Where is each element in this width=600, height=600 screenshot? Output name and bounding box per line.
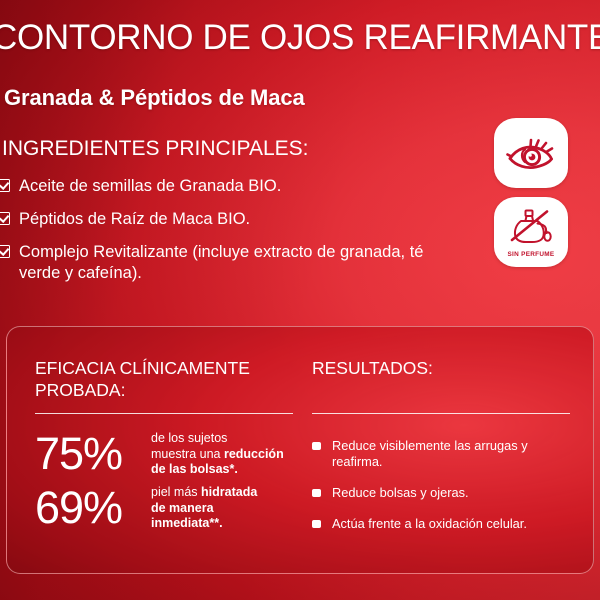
- badge-caption: SIN PERFUME: [508, 251, 555, 258]
- ingredients-section: INGREDIENTES PRINCIPALES: Aceite de semi…: [0, 136, 440, 296]
- results-heading: RESULTADOS:: [312, 357, 570, 379]
- ingredient-text: Aceite de semillas de Granada BIO.: [19, 176, 281, 197]
- ingredient-text: Péptidos de Raíz de Maca BIO.: [19, 209, 250, 230]
- badge-eye: [494, 118, 568, 188]
- list-item: Complejo Revitalizante (incluye extracto…: [0, 242, 440, 284]
- no-perfume-icon: [506, 207, 556, 249]
- stat-value: 69%: [35, 484, 151, 532]
- list-item: Actúa frente a la oxidación celular.: [312, 516, 570, 532]
- result-text: Reduce visiblemente las arrugas y reafir…: [332, 438, 570, 470]
- stat-desc-line1: de los sujetos: [151, 431, 227, 445]
- stat-desc-bold2: de las bolsas*.: [151, 462, 238, 476]
- stat-desc-line1: piel más: [151, 485, 201, 499]
- list-item: Reduce bolsas y ojeras.: [312, 485, 570, 501]
- results-list: Reduce visiblemente las arrugas y reafir…: [312, 438, 570, 532]
- checkbox-icon: [0, 245, 10, 258]
- stat-desc-line2: muestra una: [151, 447, 224, 461]
- checkbox-icon: [0, 212, 10, 225]
- ingredients-heading: INGREDIENTES PRINCIPALES:: [2, 136, 440, 162]
- stat-desc-bold3: inmediata**.: [151, 516, 223, 530]
- page-title: CONTORNO DE OJOS REAFIRMANTE: [0, 18, 600, 58]
- divider: [35, 413, 293, 414]
- stat-description: de los sujetos muestra una reducción de …: [151, 431, 284, 478]
- list-item: Péptidos de Raíz de Maca BIO.: [0, 209, 440, 230]
- product-poster: CONTORNO DE OJOS REAFIRMANTE Granada & P…: [0, 0, 600, 600]
- stats-list: 75% de los sujetos muestra una reducción…: [35, 430, 293, 532]
- results-section: RESULTADOS: Reduce visiblemente las arru…: [312, 357, 570, 547]
- bullet-icon: [312, 442, 321, 450]
- list-item: Reduce visiblemente las arrugas y reafir…: [312, 438, 570, 470]
- ingredients-list: Aceite de semillas de Granada BIO. Pépti…: [0, 176, 440, 284]
- badge-group: SIN PERFUME: [494, 118, 568, 267]
- stat-row: 75% de los sujetos muestra una reducción…: [35, 430, 293, 478]
- efficacy-section: EFICACIA CLÍNICAMENTE PROBADA: 75% de lo…: [35, 357, 293, 538]
- stat-description: piel más hidratada de manera inmediata**…: [151, 485, 257, 532]
- list-item: Aceite de semillas de Granada BIO.: [0, 176, 440, 197]
- stat-row: 69% piel más hidratada de manera inmedia…: [35, 484, 293, 532]
- page-subtitle: Granada & Péptidos de Maca: [4, 84, 305, 111]
- eye-icon: [506, 135, 556, 171]
- result-text: Actúa frente a la oxidación celular.: [332, 516, 527, 532]
- ingredient-text: Complejo Revitalizante (incluye extracto…: [19, 242, 440, 284]
- result-text: Reduce bolsas y ojeras.: [332, 485, 469, 501]
- divider: [312, 413, 570, 414]
- checkbox-icon: [0, 179, 10, 192]
- claims-panel: EFICACIA CLÍNICAMENTE PROBADA: 75% de lo…: [6, 326, 594, 574]
- bullet-icon: [312, 489, 321, 497]
- bullet-icon: [312, 520, 321, 528]
- badge-no-perfume: SIN PERFUME: [494, 197, 568, 267]
- stat-desc-bold1: reducción: [224, 447, 284, 461]
- stat-desc-bold2: de manera: [151, 501, 214, 515]
- stat-desc-bold1: hidratada: [201, 485, 257, 499]
- efficacy-heading: EFICACIA CLÍNICAMENTE PROBADA:: [35, 357, 293, 401]
- stat-value: 75%: [35, 430, 151, 478]
